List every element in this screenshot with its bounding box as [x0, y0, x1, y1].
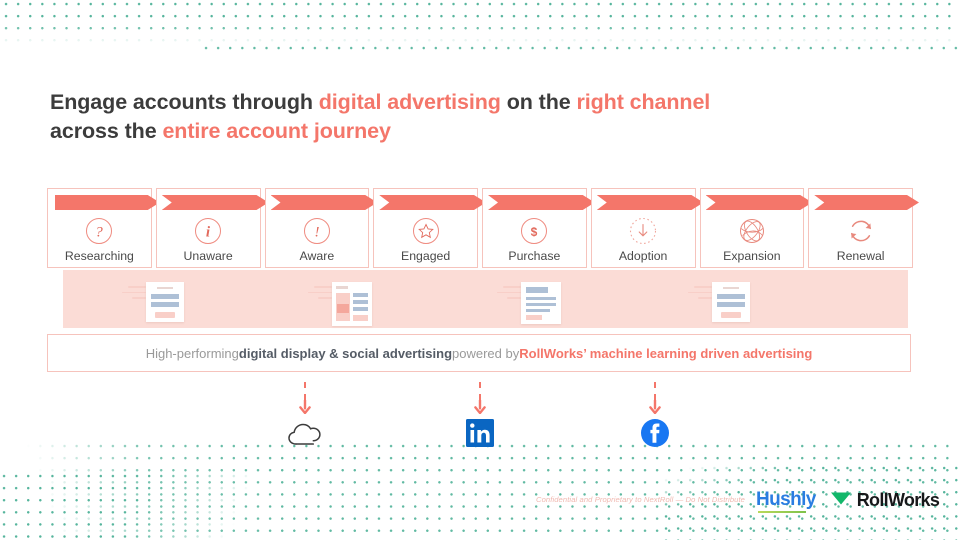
motion-lines-icon [120, 286, 146, 303]
stage-engaged[interactable]: Engaged [373, 188, 478, 268]
svg-text:?: ? [96, 225, 104, 241]
stage-label: Aware [300, 249, 335, 263]
headline-text-3: across the [50, 119, 162, 143]
star-circle-icon [411, 216, 441, 246]
headline-text-2: on the [501, 90, 577, 114]
channel-facebook[interactable] [632, 382, 678, 448]
stage-label: Unaware [184, 249, 233, 263]
dot-pattern-top [0, 0, 960, 44]
promo-bold-1: digital display & social advertising [239, 346, 452, 361]
hushly-logo: Hushly [756, 489, 816, 511]
stage-arrow-bar [814, 195, 919, 210]
salesforce-cloud-icon [282, 418, 328, 448]
stage-label: Expansion [723, 249, 780, 263]
ad-creative-group-2 [306, 282, 372, 326]
ad-creative-card-4 [712, 282, 750, 322]
question-mark-circle-icon: ? [84, 216, 114, 246]
motion-lines-icon [306, 286, 332, 303]
linkedin-icon [457, 418, 503, 448]
motion-lines-icon [686, 286, 712, 303]
channel-salesforce[interactable] [282, 382, 328, 448]
confidentiality-notice: Confidential and Proprietary to NextRoll… [536, 495, 745, 504]
dot-pattern-top-extension [200, 42, 960, 56]
stage-aware[interactable]: ! Aware [265, 188, 370, 268]
ad-creative-card-2 [332, 282, 372, 326]
hushly-logo-text: Hushly [756, 489, 816, 510]
advertising-promo-banner: High-performing digital display & social… [47, 334, 911, 372]
stage-researching[interactable]: ? Researching [47, 188, 152, 268]
stage-arrow-bar [379, 195, 486, 210]
stage-arrow-bar [488, 195, 595, 210]
ad-creative-group-3 [495, 282, 561, 324]
advertising-band [63, 270, 908, 328]
stage-label: Adoption [619, 249, 668, 263]
svg-text:$: $ [531, 225, 538, 239]
stage-arrow-bar [162, 195, 269, 210]
stage-label: Engaged [401, 249, 450, 263]
stage-label: Purchase [508, 249, 560, 263]
stage-unaware[interactable]: i Unaware [156, 188, 261, 268]
stage-label: Renewal [837, 249, 885, 263]
facebook-icon [632, 418, 678, 448]
dashed-connector [654, 382, 656, 400]
stage-renewal[interactable]: Renewal [808, 188, 913, 268]
arrow-down-icon [473, 400, 487, 414]
account-journey-strip: ? Researching i Unaware ! Aware Engaged [47, 188, 913, 268]
stage-arrow-bar [55, 195, 160, 210]
arrow-down-icon [648, 400, 662, 414]
stage-adoption[interactable]: Adoption [591, 188, 696, 268]
logo-row: Hushly RollWorks [756, 489, 939, 511]
headline-accent-3: entire account journey [162, 119, 390, 143]
rollworks-logo-text: RollWorks [857, 490, 939, 511]
headline-accent-2: right channel [577, 90, 711, 114]
slide-headline: Engage accounts through digital advertis… [50, 88, 910, 146]
arrow-down-icon [298, 400, 312, 414]
slide-canvas: Engage accounts through digital advertis… [0, 0, 960, 540]
stage-label: Researching [65, 249, 134, 263]
dot-pattern-bottom-left [0, 470, 328, 540]
info-circle-icon: i [193, 216, 223, 246]
stage-purchase[interactable]: $ Purchase [482, 188, 587, 268]
stage-arrow-bar [271, 195, 378, 210]
refresh-cycle-icon [846, 216, 876, 246]
rollworks-triangle-icon [830, 490, 852, 511]
dashed-connector [479, 382, 481, 400]
promo-middle: powered by [452, 346, 519, 361]
promo-accent: RollWorks’ machine learning driven adver… [519, 346, 812, 361]
ad-creative-group-4 [686, 282, 750, 322]
svg-text:!: ! [314, 225, 319, 241]
stage-expansion[interactable]: Expansion [700, 188, 805, 268]
rollworks-logo: RollWorks [830, 490, 939, 511]
dashed-connector [304, 382, 306, 400]
exclamation-circle-icon: ! [302, 216, 332, 246]
stage-arrow-bar [706, 195, 813, 210]
dollar-circle-icon: $ [519, 216, 549, 246]
headline-accent-1: digital advertising [319, 90, 501, 114]
ad-creative-card-1 [146, 282, 184, 322]
motion-lines-icon [495, 286, 521, 303]
ad-creative-card-3 [521, 282, 561, 324]
globe-network-icon [737, 216, 767, 246]
promo-prefix: High-performing [146, 346, 239, 361]
channel-linkedin[interactable] [457, 382, 503, 448]
download-arrow-dotted-circle-icon [628, 216, 658, 246]
hushly-underline-swoosh [758, 511, 806, 513]
ad-creative-group-1 [120, 282, 184, 322]
stage-arrow-bar [597, 195, 704, 210]
svg-text:i: i [206, 225, 211, 241]
headline-text-1: Engage accounts through [50, 90, 319, 114]
